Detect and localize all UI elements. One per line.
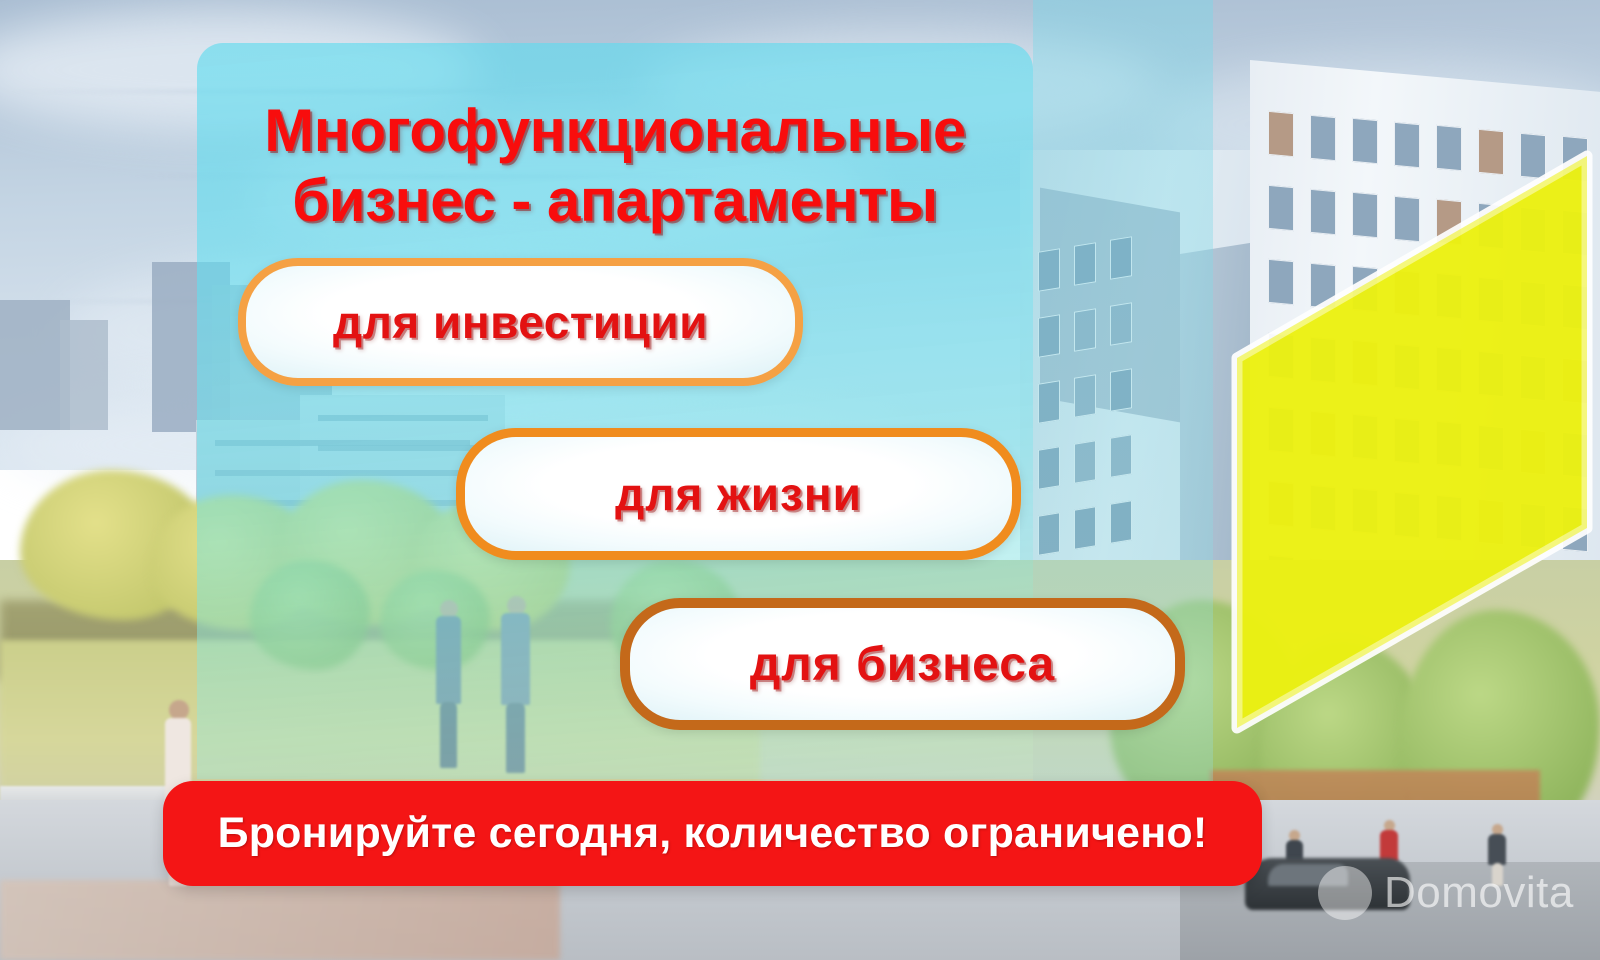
- feature-pill-business-label: для бизнеса: [750, 637, 1055, 692]
- feature-pill-investment-label: для инвестиции: [333, 295, 708, 349]
- banner-title-line-1: Многофункциональные: [264, 97, 965, 164]
- cta-label: Бронируйте сегодня, количество ограничен…: [218, 809, 1208, 858]
- feature-pill-living[interactable]: для жизни: [456, 428, 1021, 560]
- watermark: Domovita: [1318, 866, 1574, 920]
- circle-logo-icon: [1318, 866, 1372, 920]
- feature-pill-living-label: для жизни: [615, 467, 862, 521]
- banner-content: Многофункциональные бизнес - апартаменты…: [0, 0, 1600, 960]
- banner-title: Многофункциональные бизнес - апартаменты: [203, 96, 1027, 236]
- feature-pill-investment[interactable]: для инвестиции: [238, 258, 803, 386]
- banner-title-line-2: бизнес - апартаменты: [203, 166, 1027, 236]
- watermark-text: Domovita: [1384, 868, 1574, 918]
- promo-banner: Многофункциональные бизнес - апартаменты…: [0, 0, 1600, 960]
- feature-pill-business[interactable]: для бизнеса: [620, 598, 1185, 730]
- cta-banner[interactable]: Бронируйте сегодня, количество ограничен…: [163, 781, 1262, 886]
